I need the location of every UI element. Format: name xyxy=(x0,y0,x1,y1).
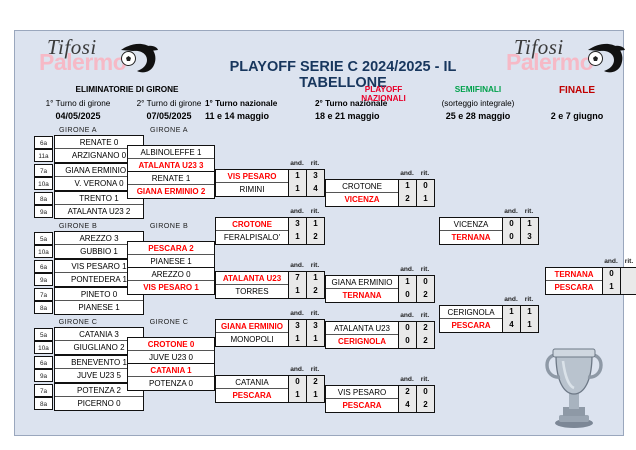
team-name: PESCARA xyxy=(546,281,602,294)
bracket-sheet: Tifosi Palermo Tifosi Palermo PLAYOFF SE… xyxy=(14,30,624,436)
label-andata: and. xyxy=(288,310,306,317)
team-rank: 7a xyxy=(34,288,53,301)
header-turno2-girone-label: 2° Turno di girone xyxy=(123,99,215,108)
match-team-row: GIANA ERMINIO33 xyxy=(216,320,324,333)
team-name: PIANESE 1 xyxy=(55,301,143,314)
header-finale-date: 2 e 7 giugno xyxy=(535,111,619,121)
match-team-row: ATALANTA U2371 xyxy=(216,272,324,285)
score-ritorno: 1 xyxy=(306,333,324,346)
team-name: ATALANTA U23 xyxy=(216,272,288,285)
team-name: RIMINI xyxy=(216,183,288,196)
match-team-row: 9aATALANTA U23 2 xyxy=(55,205,143,218)
header-eliminatorie: ELIMINATORIE DI GIRONE xyxy=(37,85,217,94)
semifinal-match[interactable]: VICENZA01TERNANA03 xyxy=(439,217,539,245)
logo-text-palermo: Palermo xyxy=(506,49,593,76)
header-turno2-nazionale-date: 18 e 21 maggio xyxy=(315,111,425,121)
label-ritorno: rit. xyxy=(416,376,434,383)
label-ritorno: rit. xyxy=(620,258,636,265)
team-name: CROTONE 0 xyxy=(128,338,214,351)
header-semifinali-date: 25 e 28 maggio xyxy=(423,111,533,121)
label-ritorno: rit. xyxy=(416,170,434,177)
score-ritorno: 2 xyxy=(416,335,434,348)
team-name: MONOPOLI xyxy=(216,333,288,346)
header-turno2-nazionale-label: 2° Turno nazionale xyxy=(315,99,425,108)
score-andata: 2 xyxy=(398,386,416,399)
match-team-row: ATALANTA U2302 xyxy=(326,322,434,335)
match-team-row: 8aPIANESE 1 xyxy=(55,301,143,314)
score-andata: 0 xyxy=(398,322,416,335)
label-andata: and. xyxy=(502,296,520,303)
team-name: CERIGNOLA xyxy=(326,335,398,348)
match-team-row: AREZZO 0 xyxy=(128,268,214,281)
team-rank: 10a xyxy=(34,245,53,258)
match-team-row: RIMINI14 xyxy=(216,183,324,196)
national-r2-match[interactable]: GIANA ERMINIO10TERNANA02 xyxy=(325,275,435,303)
label-andata: and. xyxy=(288,262,306,269)
score-ritorno: 0 xyxy=(416,386,434,399)
team-name: ATALANTA U23 3 xyxy=(128,159,214,172)
match-team-row: VIS PESARO20 xyxy=(326,386,434,399)
national-r1-match[interactable]: CROTONE31FERALPISALO'12 xyxy=(215,217,325,245)
header-semifinali-label: SEMIFINALI xyxy=(423,85,533,94)
score-andata: 3 xyxy=(288,320,306,333)
score-ritorno: 1 xyxy=(520,319,538,332)
team-name: CATANIA xyxy=(216,376,288,389)
score-ritorno: 2 xyxy=(416,322,434,335)
match-team-row: 8aPICERNO 0 xyxy=(55,397,143,410)
team-name: VIS PESARO xyxy=(216,170,288,183)
team-name: ALBINOLEFFE 1 xyxy=(128,146,214,159)
final-match[interactable]: TERNANA0PESCARA1 xyxy=(545,267,636,295)
header-turno1-girone-label: 1° Turno di girone xyxy=(33,99,123,108)
score-andata: 0 xyxy=(288,376,306,389)
label-andata: and. xyxy=(288,366,306,373)
match-team-row: CROTONE 0 xyxy=(128,338,214,351)
team-name: ATALANTA U23 xyxy=(326,322,398,335)
score-andata: 0 xyxy=(398,289,416,302)
semifinal-match[interactable]: CERIGNOLA11PESCARA41 xyxy=(439,305,539,333)
match-team-row: VIS PESARO13 xyxy=(216,170,324,183)
label-andata: and. xyxy=(502,208,520,215)
score-andata: 4 xyxy=(502,319,520,332)
match-team-row: PIANESE 1 xyxy=(128,255,214,268)
group-label-c-col1: GIRONE C xyxy=(33,317,123,326)
group-match-r2[interactable]: CROTONE 0JUVE U23 0CATANIA 1POTENZA 0 xyxy=(127,337,215,391)
team-name: GIANA ERMINIO 2 xyxy=(128,185,214,198)
team-rank: 11a xyxy=(34,149,53,162)
team-name: TERNANA xyxy=(546,268,602,281)
match-team-row: PESCARA1 xyxy=(546,281,636,294)
match-team-row: POTENZA 0 xyxy=(128,377,214,390)
score-andata: 7 xyxy=(288,272,306,285)
logo-tifosi-palermo-left: Tifosi Palermo xyxy=(33,37,163,85)
score-ritorno: 1 xyxy=(306,218,324,231)
national-r1-match[interactable]: GIANA ERMINIO33MONOPOLI11 xyxy=(215,319,325,347)
score-andata: 1 xyxy=(288,389,306,402)
score-andata: 1 xyxy=(602,281,620,294)
team-name: VIS PESARO 1 xyxy=(128,281,214,294)
score-ritorno: 3 xyxy=(306,320,324,333)
label-andata: and. xyxy=(398,170,416,177)
score-andata: 1 xyxy=(288,231,306,244)
team-rank: 7a xyxy=(34,384,53,397)
match-team-row: CERIGNOLA02 xyxy=(326,335,434,348)
score-ritorno xyxy=(620,268,636,281)
label-ritorno: rit. xyxy=(306,310,324,317)
match-team-row: CATANIA 1 xyxy=(128,364,214,377)
score-ritorno: 4 xyxy=(306,183,324,196)
score-andata: 0 xyxy=(398,335,416,348)
score-andata: 1 xyxy=(288,333,306,346)
team-name: PIANESE 1 xyxy=(128,255,214,268)
header-turno1-girone-date: 04/05/2025 xyxy=(33,111,123,121)
match-team-row: TERNANA02 xyxy=(326,289,434,302)
soccer-ball-icon xyxy=(121,51,136,66)
match-team-row: TERNANA0 xyxy=(546,268,636,281)
score-andata: 1 xyxy=(398,180,416,193)
team-name: POTENZA 0 xyxy=(128,377,214,390)
label-ritorno: rit. xyxy=(520,296,538,303)
team-rank: 9a xyxy=(34,369,53,382)
group-label-a-col2: GIRONE A xyxy=(123,125,215,134)
team-rank: 8a xyxy=(34,192,53,205)
group-label-b-col1: GIRONE B xyxy=(33,221,123,230)
score-ritorno: 1 xyxy=(520,306,538,319)
label-andata: and. xyxy=(288,208,306,215)
team-rank: 9a xyxy=(34,205,53,218)
match-team-row: PESCARA42 xyxy=(326,399,434,412)
national-r1-match[interactable]: CATANIA02PESCARA11 xyxy=(215,375,325,403)
score-andata: 4 xyxy=(398,399,416,412)
match-team-row: VICENZA21 xyxy=(326,193,434,206)
group-label-b-col2: GIRONE B xyxy=(123,221,215,230)
score-ritorno: 1 xyxy=(520,218,538,231)
score-ritorno: 1 xyxy=(416,193,434,206)
national-r2-match[interactable]: VIS PESARO20PESCARA42 xyxy=(325,385,435,413)
score-ritorno: 2 xyxy=(306,231,324,244)
header-semifinali-note: (sorteggio integrale) xyxy=(423,99,533,108)
score-andata: 1 xyxy=(288,285,306,298)
match-team-row: MONOPOLI11 xyxy=(216,333,324,346)
score-andata: 3 xyxy=(288,218,306,231)
team-name: CROTONE xyxy=(326,180,398,193)
team-rank: 7a xyxy=(34,164,53,177)
national-r1-match[interactable]: ATALANTA U2371TORRES12 xyxy=(215,271,325,299)
logo-text-palermo: Palermo xyxy=(39,49,126,76)
group-label-a-col1: GIRONE A xyxy=(33,125,123,134)
match-team-row: TERNANA03 xyxy=(440,231,538,244)
score-andata: 2 xyxy=(398,193,416,206)
score-ritorno: 1 xyxy=(306,272,324,285)
label-ritorno: rit. xyxy=(306,366,324,373)
team-name: PICERNO 0 xyxy=(55,397,143,410)
score-ritorno: 0 xyxy=(416,180,434,193)
match-team-row: ALBINOLEFFE 1 xyxy=(128,146,214,159)
label-ritorno: rit. xyxy=(306,208,324,215)
match-team-row: PESCARA41 xyxy=(440,319,538,332)
score-ritorno: 2 xyxy=(306,376,324,389)
score-andata: 1 xyxy=(502,306,520,319)
label-andata: and. xyxy=(602,258,620,265)
label-ritorno: rit. xyxy=(416,266,434,273)
trophy-icon xyxy=(543,337,605,429)
label-ritorno: rit. xyxy=(306,160,324,167)
match-team-row: CERIGNOLA11 xyxy=(440,306,538,319)
header-turno2-girone-date: 07/05/2025 xyxy=(123,111,215,121)
score-andata: 1 xyxy=(288,170,306,183)
score-ritorno: 0 xyxy=(416,276,434,289)
team-name: PESCARA xyxy=(326,399,398,412)
label-andata: and. xyxy=(398,312,416,319)
match-team-row: JUVE U23 0 xyxy=(128,351,214,364)
team-name: ATALANTA U23 2 xyxy=(55,205,143,218)
score-ritorno: 3 xyxy=(306,170,324,183)
national-r2-match[interactable]: ATALANTA U2302CERIGNOLA02 xyxy=(325,321,435,349)
label-ritorno: rit. xyxy=(306,262,324,269)
score-ritorno: 2 xyxy=(306,285,324,298)
score-andata: 0 xyxy=(602,268,620,281)
label-ritorno: rit. xyxy=(416,312,434,319)
team-rank: 6a xyxy=(34,356,53,369)
team-rank: 8a xyxy=(34,301,53,314)
group-match-r2[interactable]: ALBINOLEFFE 1ATALANTA U23 3RENATE 1GIANA… xyxy=(127,145,215,199)
match-team-row: CROTONE10 xyxy=(326,180,434,193)
team-name: JUVE U23 0 xyxy=(128,351,214,364)
match-team-row: VIS PESARO 1 xyxy=(128,281,214,294)
logo-tifosi-palermo-right: Tifosi Palermo xyxy=(500,37,630,85)
team-name: GIANA ERMINIO xyxy=(216,320,288,333)
label-ritorno: rit. xyxy=(520,208,538,215)
team-rank: 5a xyxy=(34,232,53,245)
score-andata: 0 xyxy=(502,218,520,231)
header-turno1-nazionale-date: 11 e 14 maggio xyxy=(205,111,315,121)
label-andata: and. xyxy=(398,266,416,273)
team-name: FERALPISALO' xyxy=(216,231,288,244)
score-andata: 1 xyxy=(288,183,306,196)
match-team-row: PESCARA 2 xyxy=(128,242,214,255)
score-ritorno xyxy=(620,281,636,294)
match-team-row: GIANA ERMINIO 2 xyxy=(128,185,214,198)
team-name: VICENZA xyxy=(440,218,502,231)
team-rank: 6a xyxy=(34,136,53,149)
match-team-row: PESCARA11 xyxy=(216,389,324,402)
score-ritorno: 2 xyxy=(416,399,434,412)
team-rank: 8a xyxy=(34,397,53,410)
score-ritorno: 3 xyxy=(520,231,538,244)
team-name: TERNANA xyxy=(326,289,398,302)
score-andata: 1 xyxy=(398,276,416,289)
team-name: CERIGNOLA xyxy=(440,306,502,319)
group-label-c-col2: GIRONE C xyxy=(123,317,215,326)
label-andata: and. xyxy=(288,160,306,167)
team-name: CROTONE xyxy=(216,218,288,231)
team-rank: 10a xyxy=(34,177,53,190)
team-name: RENATE 1 xyxy=(128,172,214,185)
match-team-row: ATALANTA U23 3 xyxy=(128,159,214,172)
team-name: GIANA ERMINIO xyxy=(326,276,398,289)
team-rank: 9a xyxy=(34,273,53,286)
match-team-row: RENATE 1 xyxy=(128,172,214,185)
team-name: TORRES xyxy=(216,285,288,298)
score-ritorno: 2 xyxy=(416,289,434,302)
header-turno1-nazionale-label: 1° Turno nazionale xyxy=(205,99,315,108)
team-name: PESCARA 2 xyxy=(128,242,214,255)
score-andata: 0 xyxy=(502,231,520,244)
group-match-r2[interactable]: PESCARA 2PIANESE 1AREZZO 0VIS PESARO 1 xyxy=(127,241,215,295)
soccer-ball-icon xyxy=(588,51,603,66)
match-team-row: VICENZA01 xyxy=(440,218,538,231)
score-ritorno: 1 xyxy=(306,389,324,402)
team-name: AREZZO 0 xyxy=(128,268,214,281)
match-team-row: FERALPISALO'12 xyxy=(216,231,324,244)
team-rank: 5a xyxy=(34,328,53,341)
national-r2-match[interactable]: CROTONE10VICENZA21 xyxy=(325,179,435,207)
team-name: CATANIA 1 xyxy=(128,364,214,377)
match-team-row: GIANA ERMINIO10 xyxy=(326,276,434,289)
team-name: VIS PESARO xyxy=(326,386,398,399)
label-andata: and. xyxy=(398,376,416,383)
match-team-row: CROTONE31 xyxy=(216,218,324,231)
match-team-row: TORRES12 xyxy=(216,285,324,298)
team-name: VICENZA xyxy=(326,193,398,206)
team-name: TERNANA xyxy=(440,231,502,244)
team-rank: 10a xyxy=(34,341,53,354)
national-r1-match[interactable]: VIS PESARO13RIMINI14 xyxy=(215,169,325,197)
team-name: PESCARA xyxy=(440,319,502,332)
team-name: PESCARA xyxy=(216,389,288,402)
match-team-row: CATANIA02 xyxy=(216,376,324,389)
team-rank: 6a xyxy=(34,260,53,273)
header-finale-label: FINALE xyxy=(535,85,619,96)
